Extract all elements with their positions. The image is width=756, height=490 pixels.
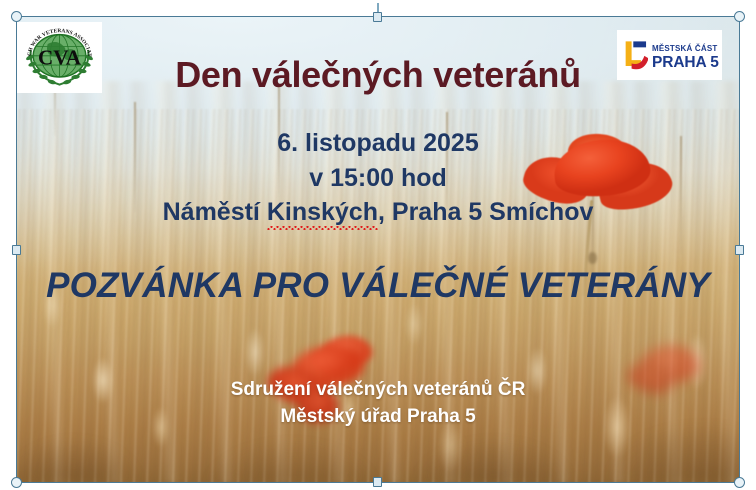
event-location-misspelled-word: Kinských <box>267 198 378 226</box>
event-location-suffix: , Praha 5 Smíchov <box>378 198 593 226</box>
event-location-prefix: Náměstí <box>163 198 267 226</box>
poster-image[interactable]: CZECH WAR VETERANS ASSOCIATION CVA MĚSTS… <box>16 16 740 483</box>
organizer-line-2: Městský úřad Praha 5 <box>16 406 740 428</box>
rotation-handle-stem <box>377 3 379 15</box>
poster-title: Den válečných veteránů <box>16 54 740 96</box>
seed-bud-icon <box>588 252 597 264</box>
event-date: 6. listopadu 2025 <box>16 129 740 158</box>
event-time: v 15:00 hod <box>16 164 740 193</box>
organizer-line-1: Sdružení válečných veteránů ČR <box>16 379 740 401</box>
event-location: Náměstí Kinských, Praha 5 Smíchov <box>16 198 740 227</box>
poster-headline: POZVÁNKA PRO VÁLEČNÉ VETERÁNY <box>16 266 740 306</box>
editor-canvas: CZECH WAR VETERANS ASSOCIATION CVA MĚSTS… <box>0 0 756 490</box>
praha5-logo-line1: MĚSTSKÁ ČÁST <box>652 44 718 53</box>
